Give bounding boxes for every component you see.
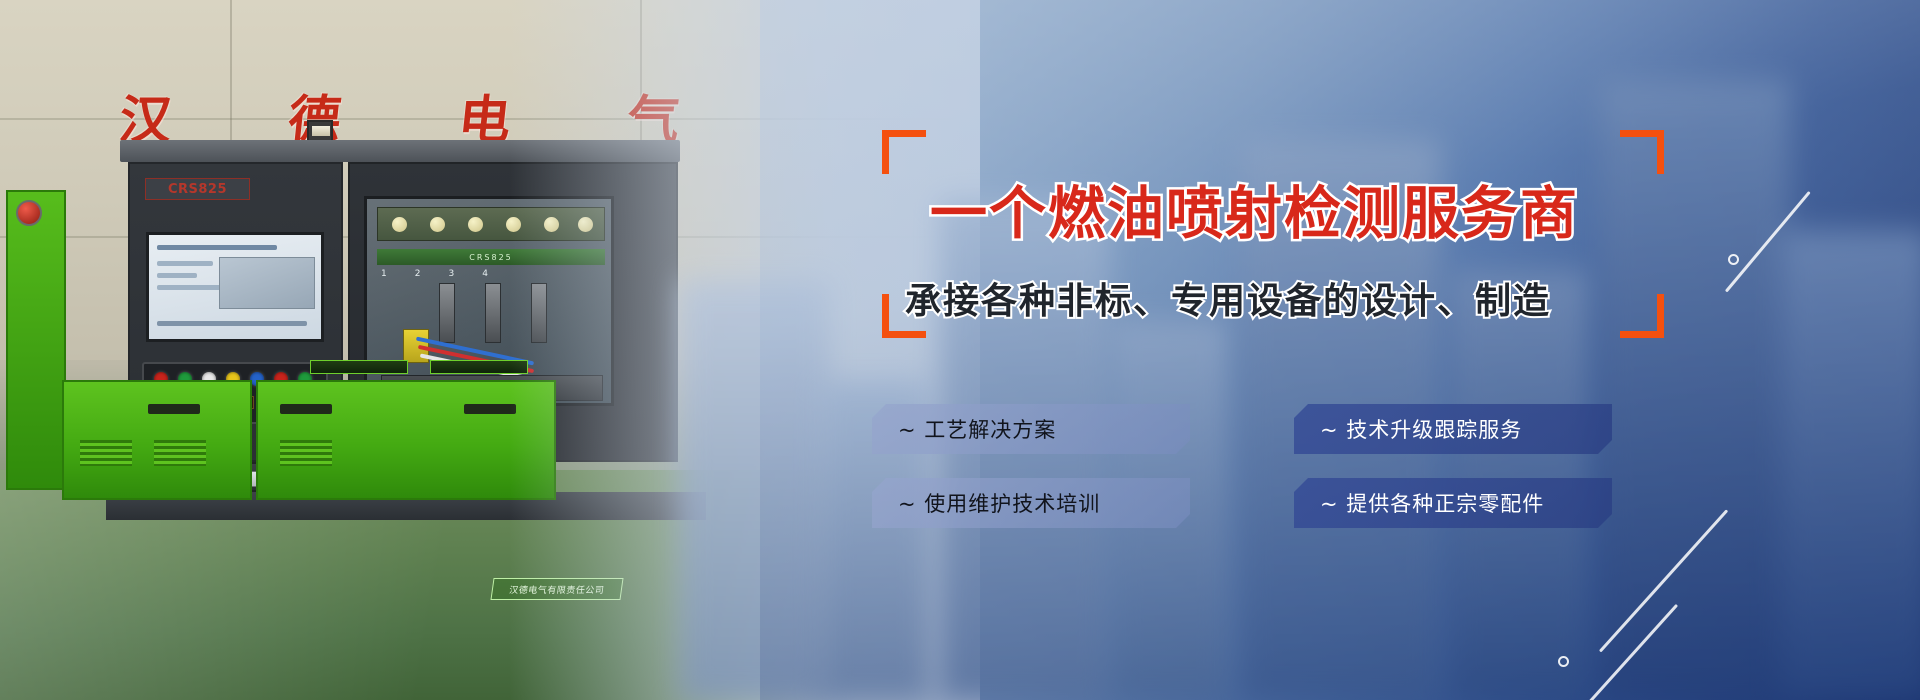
service-tag-list: ~ 工艺解决方案 ~ 技术升级跟踪服务 ~ 使用维护技术培训 ~ 提供各种正宗零… xyxy=(872,404,1612,552)
service-tag-genuine-parts[interactable]: ~ 提供各种正宗零配件 xyxy=(1294,478,1612,528)
service-tag-training[interactable]: ~ 使用维护技术培训 xyxy=(872,478,1190,528)
service-tag-row-2: ~ 使用维护技术培训 ~ 提供各种正宗零配件 xyxy=(872,478,1612,528)
sky-overlay xyxy=(760,0,1920,700)
corner-bracket-top-right-icon xyxy=(1620,130,1664,174)
service-tag-tech-upgrade[interactable]: ~ 技术升级跟踪服务 xyxy=(1294,404,1612,454)
page-title: 一个燃油喷射检测服务商 xyxy=(930,168,1579,250)
corner-bracket-bottom-right-icon xyxy=(1620,294,1664,338)
corner-bracket-top-left-icon xyxy=(882,130,926,174)
deco-circle-top xyxy=(1728,254,1739,265)
page-subtitle: 承接各种非标、专用设备的设计、制造 xyxy=(905,272,1551,324)
deco-circle-bottom xyxy=(1558,656,1569,667)
service-tag-row-1: ~ 工艺解决方案 ~ 技术升级跟踪服务 xyxy=(872,404,1612,454)
service-tag-process-solution[interactable]: ~ 工艺解决方案 xyxy=(872,404,1190,454)
hero-banner: 汉 德 电 气 CRS825 xyxy=(0,0,1920,700)
